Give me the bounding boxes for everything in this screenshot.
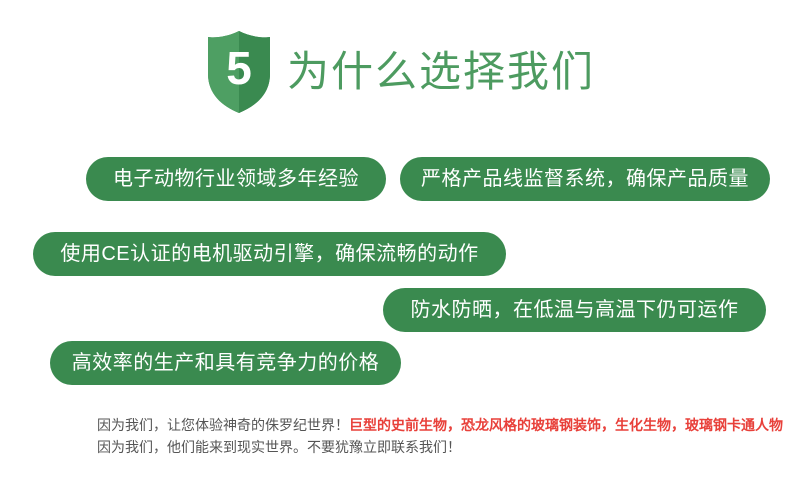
promo-page: 5 为什么选择我们 电子动物行业领域多年经验 严格产品线监督系统，确保产品质量 … [0,0,800,485]
page-title: 为什么选择我们 [287,51,595,93]
shield-badge: 5 [205,30,273,114]
footer-line-1-accent: 巨型的史前生物，恐龙风格的玻璃钢装饰，生化生物，玻璃钢卡通人物 [349,417,783,433]
footer-line-2: 因为我们，他们能来到现实世界。不要犹豫立即联系我们！ [97,436,777,458]
footer-line-1: 因为我们，让您体验神奇的侏罗纪世界！巨型的史前生物，恐龙风格的玻璃钢装饰，生化生… [97,414,777,436]
feature-pill-1[interactable]: 电子动物行业领域多年经验 [86,157,386,201]
feature-pill-4[interactable]: 防水防晒，在低温与高温下仍可运作 [383,288,766,332]
page-header: 5 为什么选择我们 [0,26,800,118]
footer-copy: 因为我们，让您体验神奇的侏罗纪世界！巨型的史前生物，恐龙风格的玻璃钢装饰，生化生… [97,414,777,458]
feature-pill-3[interactable]: 使用CE认证的电机驱动引擎，确保流畅的动作 [33,232,506,276]
footer-line-1-plain: 因为我们，让您体验神奇的侏罗纪世界！ [97,417,349,433]
feature-pill-2[interactable]: 严格产品线监督系统，确保产品质量 [400,157,770,201]
badge-number: 5 [205,30,273,114]
feature-pill-5[interactable]: 高效率的生产和具有竞争力的价格 [50,341,401,385]
